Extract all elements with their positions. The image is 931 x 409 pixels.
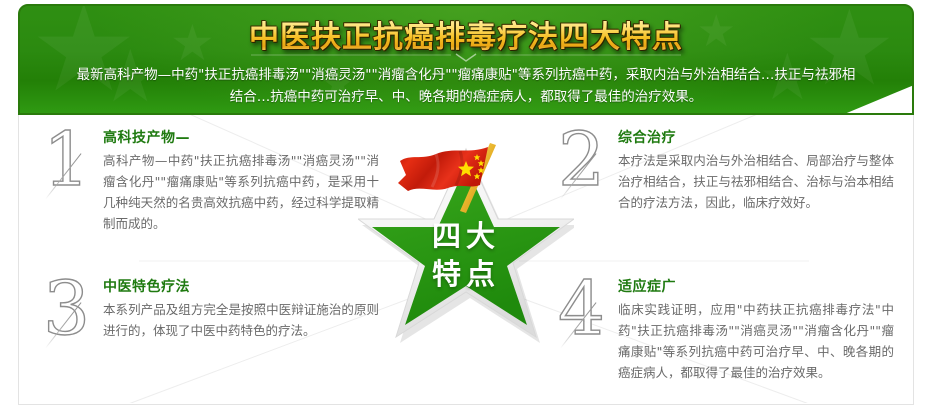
feature-number-slash-icon bbox=[45, 302, 81, 348]
feature-text-2: 本疗法是采取内治与外治相结合、局部治疗与整体治疗相结合，扶正与祛邪相结合、治标与… bbox=[618, 150, 894, 213]
star-label-line1: 四大 bbox=[358, 217, 574, 255]
feature-block-1: 1 高科技产物— 高科产物—中药"扶正抗癌排毒汤""消癌灵汤""消瘤含化丹""瘤… bbox=[49, 129, 379, 234]
page-title-wrap: 中医扶正抗癌排毒疗法四大特点 bbox=[20, 12, 912, 56]
star-label-line2: 特点 bbox=[358, 255, 574, 293]
feature-block-2: 2 综合治疗 本疗法是采取内治与外治相结合、局部治疗与整体治疗相结合，扶正与祛邪… bbox=[564, 129, 894, 213]
feature-number-slash-icon bbox=[45, 153, 81, 199]
feature-body-4: 适应症广 临床实践证明，应用"中药扶正抗癌排毒疗法"中药"扶正抗癌排毒汤""消癌… bbox=[618, 278, 894, 383]
feature-number-1: 1 bbox=[43, 123, 90, 197]
feature-body-1: 高科技产物— 高科产物—中药"扶正抗癌排毒汤""消癌灵汤""消瘤含化丹""瘤痛康… bbox=[103, 129, 379, 234]
header-lead-text: 最新高科产物—中药"扶正抗癌排毒汤""消癌灵汤""消瘤含化丹""瘤痛康贴"等系列… bbox=[74, 64, 858, 108]
feature-title-3: 中医特色疗法 bbox=[103, 278, 379, 296]
feature-title-4: 适应症广 bbox=[618, 278, 894, 296]
features-panel: 1 高科技产物— 高科产物—中药"扶正抗癌排毒汤""消癌灵汤""消瘤含化丹""瘤… bbox=[18, 115, 914, 405]
feature-title-1: 高科技产物— bbox=[103, 129, 379, 147]
feature-body-2: 综合治疗 本疗法是采取内治与外治相结合、局部治疗与整体治疗相结合，扶正与祛邪相结… bbox=[618, 129, 894, 213]
page-title: 中医扶正抗癌排毒疗法四大特点 bbox=[249, 12, 683, 56]
poster-root: ★ ★ ★ ★ ★ ★ ★ 中医扶正抗癌排毒疗法四大特点 最新高科产物—中药"扶… bbox=[0, 0, 931, 409]
chinese-flag-icon bbox=[396, 141, 500, 215]
star-label: 四大 特点 bbox=[358, 217, 574, 293]
feature-text-3: 本系列产品及组方完全是按照中医辩证施治的原则进行的，体现了中医中药特色的疗法。 bbox=[103, 299, 379, 341]
feature-body-3: 中医特色疗法 本系列产品及组方完全是按照中医辩证施治的原则进行的，体现了中医中药… bbox=[103, 278, 379, 341]
feature-block-3: 3 中医特色疗法 本系列产品及组方完全是按照中医辩证施治的原则进行的，体现了中医… bbox=[49, 278, 379, 341]
feature-title-2: 综合治疗 bbox=[618, 129, 894, 147]
header-banner: ★ ★ ★ ★ ★ ★ ★ 中医扶正抗癌排毒疗法四大特点 最新高科产物—中药"扶… bbox=[18, 4, 914, 115]
feature-block-4: 4 适应症广 临床实践证明，应用"中药扶正抗癌排毒疗法"中药"扶正抗癌排毒汤""… bbox=[564, 278, 894, 383]
feature-text-1: 高科产物—中药"扶正抗癌排毒汤""消癌灵汤""消瘤含化丹""瘤痛康贴"等系列抗癌… bbox=[103, 150, 379, 234]
feature-number-3: 3 bbox=[43, 272, 90, 346]
center-star-graphic: 四大 特点 bbox=[358, 133, 574, 373]
feature-text-4: 临床实践证明，应用"中药扶正抗癌排毒疗法"中药"扶正抗癌排毒汤""消癌灵汤""消… bbox=[618, 299, 894, 383]
